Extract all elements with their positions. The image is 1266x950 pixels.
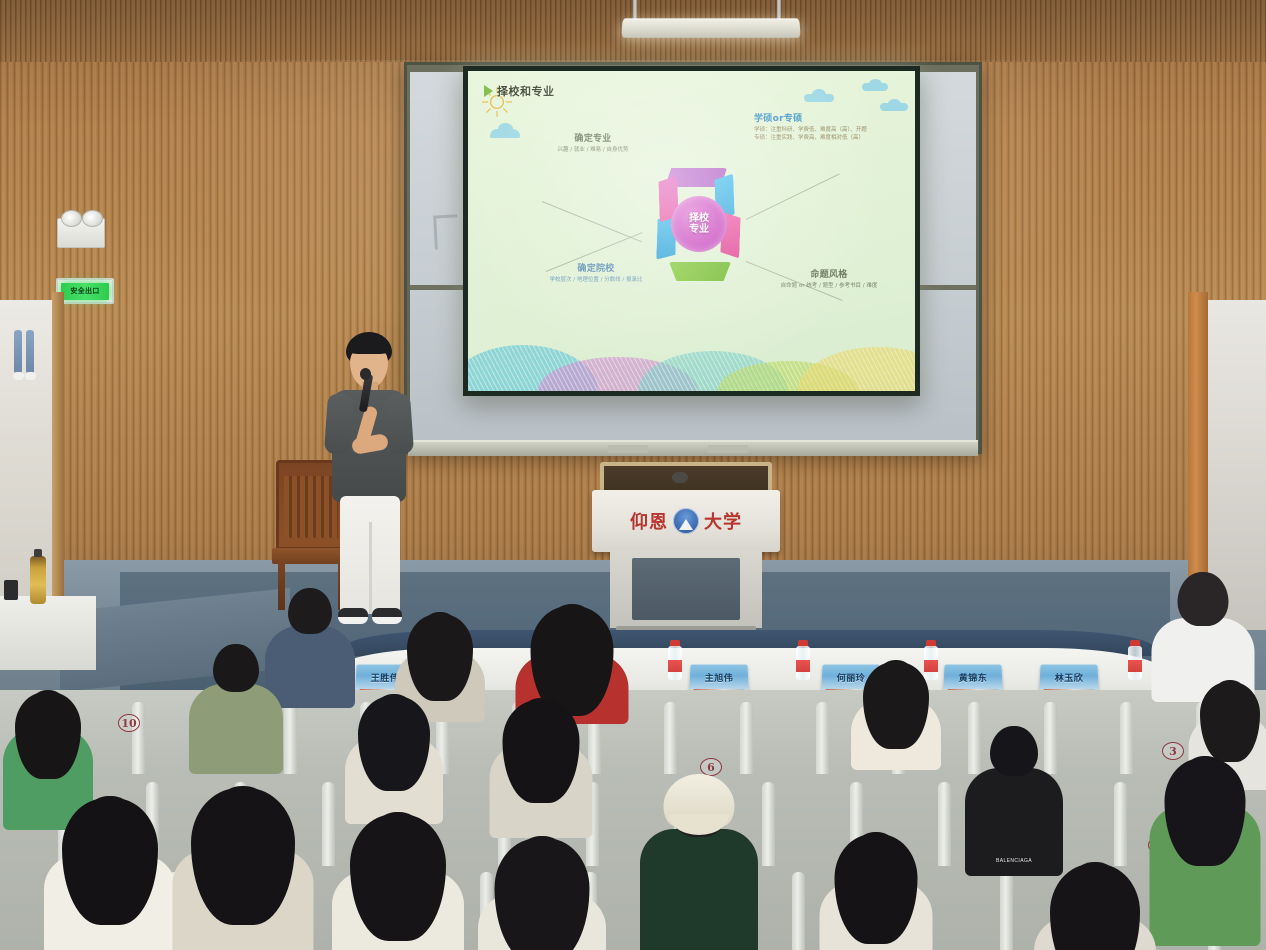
audience-head [1210, 680, 1250, 722]
audience-member [328, 812, 468, 950]
tshirt-brand-text: BALENCIAGA [996, 858, 1032, 864]
audience-head [418, 612, 462, 658]
hex-segment-green [669, 262, 731, 281]
slide-quadrant-top-right: 学硕or专硕 学硕：注重科研、学费低、难度高（高）、开题 专硕：注重实践、学费高… [754, 111, 904, 142]
seat-divider [740, 702, 753, 774]
audience-head [26, 690, 70, 736]
slide-surface: 择校和专业 择校 专业 [468, 71, 915, 391]
exit-sign-panel: 安全出口 [61, 283, 109, 300]
seat-divider [132, 702, 145, 774]
ceiling-light-fixture [621, 18, 800, 37]
audience-member [486, 698, 596, 838]
quadrant-heading: 命题风格 [754, 267, 904, 280]
quadrant-detail: 兴趣 / 就业 / 难易 / 自身优势 [528, 146, 658, 154]
audience-member [40, 796, 180, 950]
audience-head [849, 832, 904, 890]
slide-quadrant-bottom-right: 命题风格 自命题 or 统考 / 题型 / 参考书目 / 难度 [754, 267, 904, 290]
audience-member [474, 836, 610, 950]
side-counter [0, 596, 96, 670]
audience-member [168, 786, 318, 950]
slide-quadrant-bottom-left: 确定院校 学校层次 / 地理位置 / 分数线 / 报录比 [526, 261, 666, 284]
seat-divider [664, 702, 677, 774]
cloud-icon [880, 99, 908, 111]
audience-head [213, 644, 259, 692]
hex-center-line1: 择校 [689, 213, 709, 224]
audience-head [516, 698, 567, 752]
lecture-hall-scene: 择校和专业 择校 专业 [0, 0, 1266, 950]
university-crest-icon [673, 508, 699, 534]
slide-quadrant-top-left: 确定专业 兴趣 / 就业 / 难易 / 自身优势 [528, 131, 658, 154]
name-placard: 主旭伟 [689, 665, 748, 690]
seat-divider [1120, 702, 1133, 774]
placard-name: 黄锦东 [959, 671, 988, 684]
corridor-person [14, 330, 36, 388]
mouse-icon[interactable] [672, 472, 688, 483]
audience-head [1178, 756, 1232, 813]
quadrant-detail: 学硕：注重科研、学费低、难度高（高）、开题 专硕：注重实践、学费高、难度相对低（… [754, 126, 904, 142]
audience-head [209, 786, 278, 858]
audience-head [545, 604, 600, 662]
water-bottle [1128, 640, 1142, 680]
quadrant-heading: 确定专业 [528, 131, 658, 144]
audience-member [848, 660, 944, 770]
placard-name: 林玉欣 [1055, 671, 1084, 684]
audience-head [78, 796, 142, 863]
exit-sign-text: 安全出口 [70, 286, 99, 296]
quadrant-detail: 学校层次 / 地理位置 / 分数线 / 报录比 [526, 276, 666, 284]
projection-screen: 择校和专业 择校 专业 [463, 66, 920, 396]
emergency-light-icon [57, 218, 105, 248]
quadrant-detail: 自命题 or 统考 / 题型 / 参考书目 / 难度 [754, 282, 904, 290]
whiteboard-tray [408, 440, 978, 456]
name-placard: 黄锦东 [943, 665, 1002, 690]
audience-member [1146, 756, 1264, 946]
seat-divider [938, 782, 951, 866]
hex-center-circle: 择校 专业 [671, 196, 727, 252]
audience-head [874, 660, 918, 706]
audience-head [288, 588, 332, 634]
seat-divider [762, 782, 775, 866]
name-placard: 林玉欣 [1039, 665, 1098, 690]
audience-member [342, 694, 446, 824]
mountain-icon [490, 123, 520, 137]
beverage-bottle [30, 556, 46, 604]
left-door-frame [52, 292, 64, 644]
water-bottle [668, 640, 682, 680]
quadrant-heading: 确定院校 [526, 261, 666, 274]
counter-object [4, 580, 18, 600]
audience-member: BALENCIAGA [962, 726, 1066, 876]
audience-head [1178, 572, 1229, 626]
audience-torso [640, 829, 758, 950]
audience-head [366, 812, 430, 879]
audience-head [370, 694, 418, 744]
connector-line [746, 173, 840, 219]
hex-center-line2: 专业 [689, 224, 709, 235]
triangle-bullet-icon [484, 85, 493, 97]
cloud-icon [804, 89, 834, 102]
cloud-icon [862, 79, 888, 91]
podium-equipment-panel [632, 558, 740, 620]
audience-member [816, 832, 936, 950]
audience-head [1065, 862, 1125, 925]
seat-divider [1000, 872, 1013, 950]
exit-sign: 安全出口 [56, 278, 114, 304]
seat-divider [792, 872, 805, 950]
seat-divider [1114, 782, 1127, 866]
audience-member [636, 776, 762, 950]
whiteboard-marker-mark [433, 214, 459, 249]
seat-number: 10 [118, 714, 140, 732]
audience-head [990, 726, 1038, 776]
quadrant-heading: 学硕or专硕 [754, 111, 904, 124]
water-bottle [796, 640, 810, 680]
university-name-left: 仰恩 [630, 508, 668, 534]
podium-front-panel: 仰恩 大学 [592, 490, 780, 552]
audience-member [1030, 862, 1160, 950]
hills-decor [468, 329, 915, 391]
slide-title-row: 择校和专业 [484, 83, 555, 99]
audience-member [186, 644, 286, 774]
connector-line [542, 201, 643, 242]
seat-divider [816, 702, 829, 774]
slide-title: 择校和专业 [497, 83, 555, 99]
university-name-right: 大学 [704, 508, 742, 534]
placard-name: 主旭伟 [705, 671, 734, 684]
audience-torso [189, 684, 283, 774]
audience-head [511, 836, 574, 902]
